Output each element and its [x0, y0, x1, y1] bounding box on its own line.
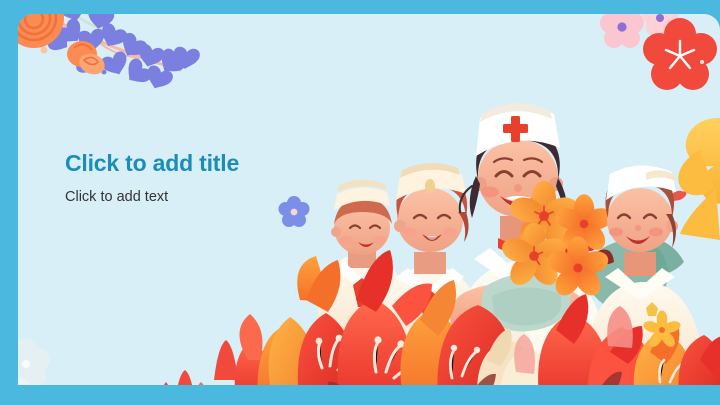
tulip-orange-left — [269, 260, 361, 385]
slide-inner-panel: Click to add title Click to add text — [18, 14, 720, 385]
decoration-bottom-left-pale-flowers — [18, 339, 50, 385]
figure-nurse-right — [588, 165, 700, 385]
bouquet-center — [481, 181, 615, 331]
decoration-gold-flower-right — [667, 118, 720, 240]
title-placeholder[interactable]: Click to add title — [65, 150, 405, 176]
bouquet-flower-b — [553, 194, 616, 254]
tulip-red-center-left — [338, 250, 432, 385]
body-text-placeholder[interactable]: Click to add text — [65, 189, 405, 206]
slide-canvas: Click to add title Click to add text — [0, 0, 720, 405]
rose-bud-top-left — [67, 41, 108, 78]
pink-blossom-b — [642, 14, 679, 36]
rose-top-left — [18, 14, 64, 48]
tulip-orange-mid — [401, 280, 516, 385]
tulip-orange-right — [634, 324, 694, 385]
pink-blossom-a — [600, 14, 644, 48]
decoration-top-right-blossoms — [600, 14, 717, 90]
bouquet-flower-d — [545, 237, 611, 301]
red-cross-icon — [503, 116, 528, 142]
decoration-top-left-branch — [18, 14, 201, 93]
figure-nurse-main — [450, 103, 604, 385]
foreground-flower-field — [160, 250, 720, 385]
back-foliage — [590, 236, 684, 313]
bouquet-flower-c — [499, 223, 569, 290]
tulip-red-right — [538, 294, 655, 385]
gold-star-flower — [642, 311, 682, 350]
red-blossom — [643, 18, 717, 90]
text-placeholder-block: Click to add title Click to add text — [65, 150, 405, 207]
bouquet-flower-a — [507, 181, 581, 252]
